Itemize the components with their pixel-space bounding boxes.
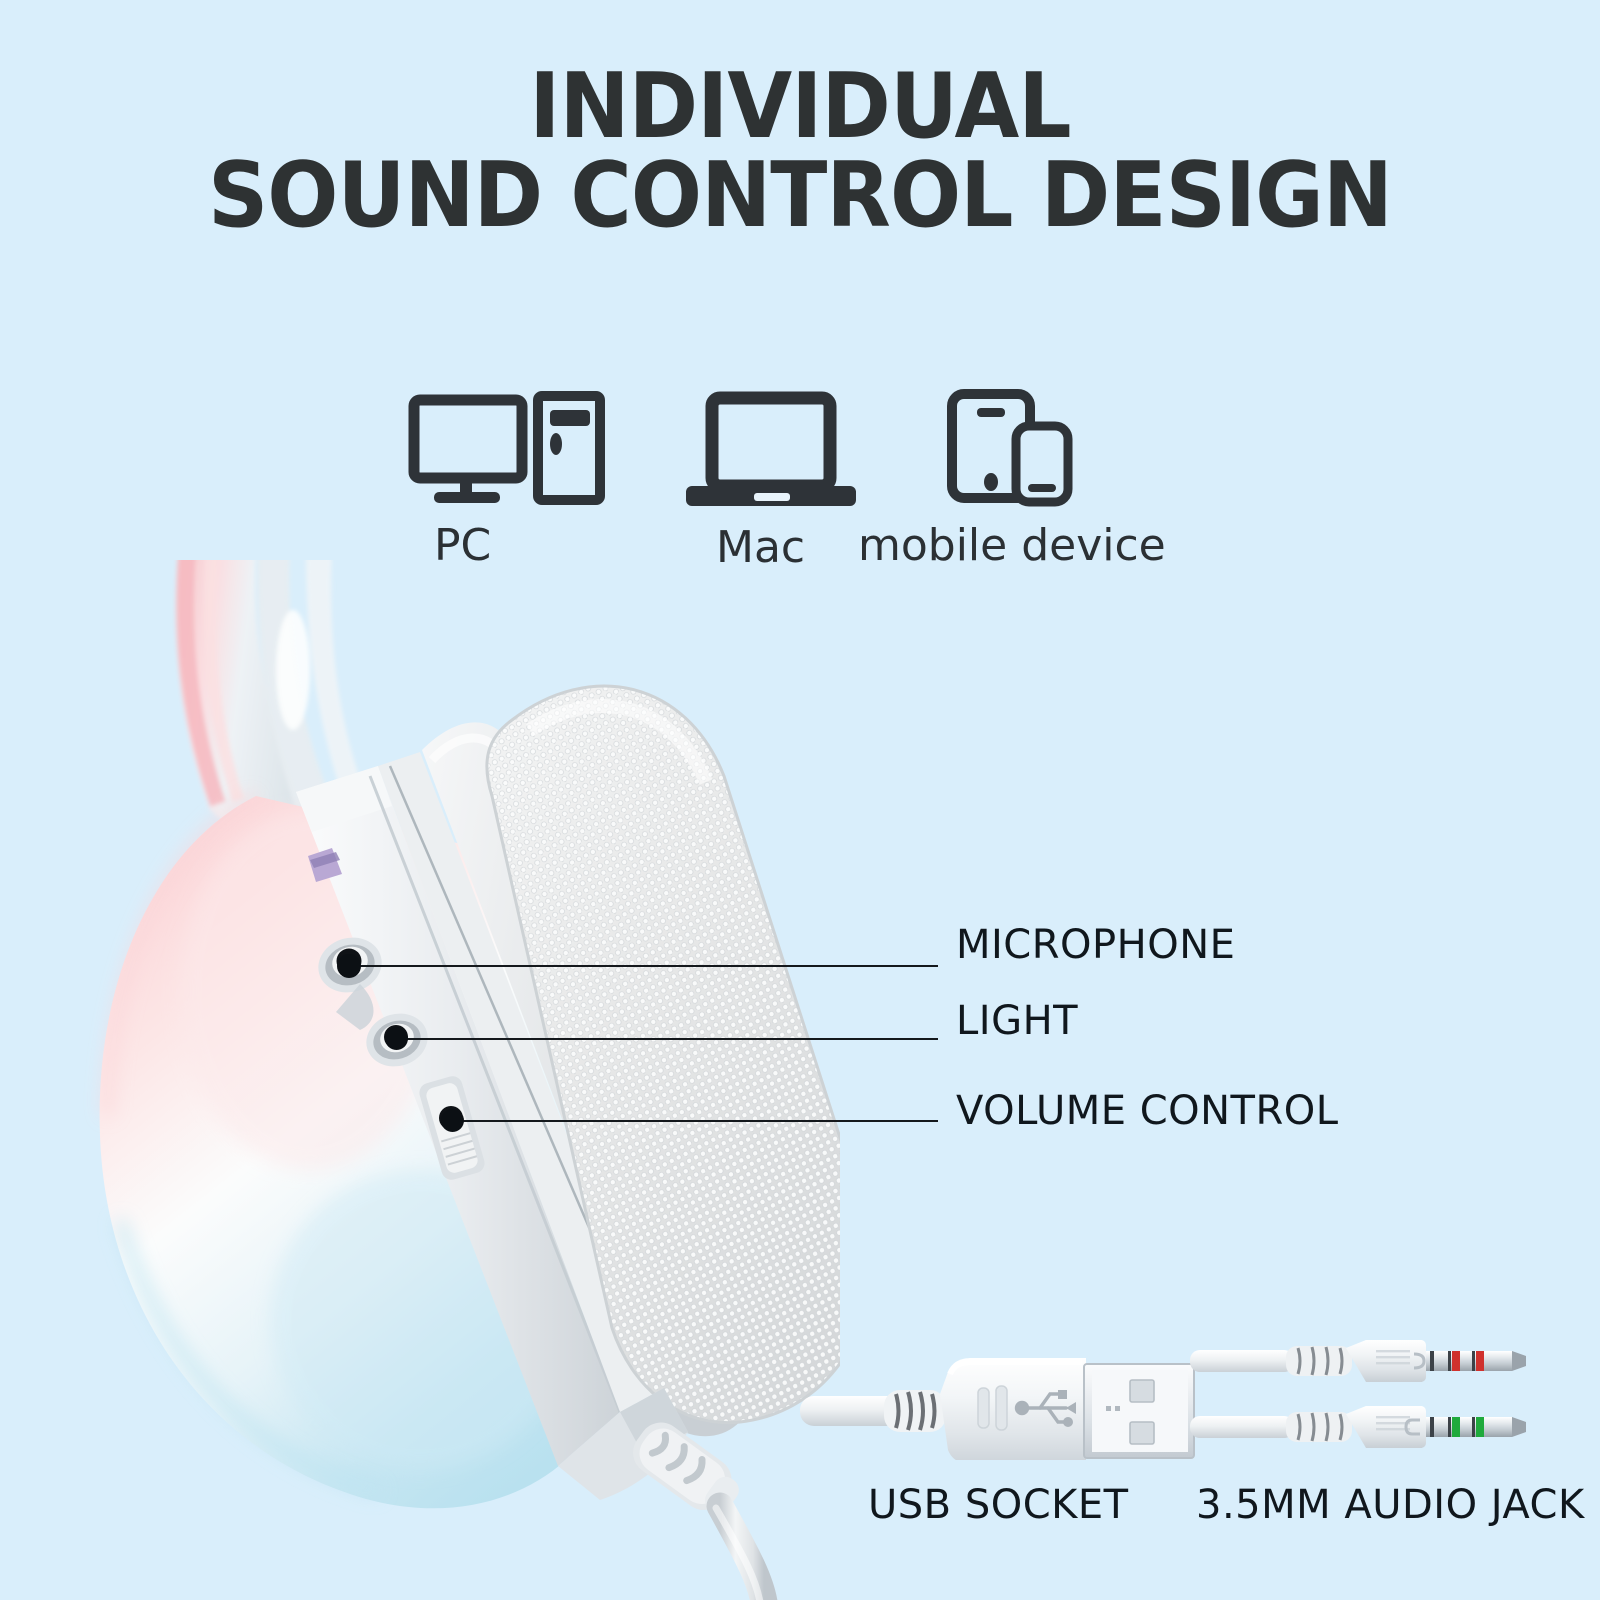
callout-label-volume: VOLUME CONTROL: [956, 1088, 1339, 1134]
laptop-icon: [686, 390, 856, 510]
leader-dot-light: [385, 1027, 408, 1050]
callout-label-light: LIGHT: [956, 998, 1078, 1044]
page-title: INDIVIDUAL SOUND CONTROL DESIGN: [0, 62, 1600, 240]
callout-label-microphone: MICROPHONE: [956, 922, 1235, 968]
desktop-computer-icon: [408, 388, 608, 508]
title-line-1: INDIVIDUAL: [56, 62, 1544, 151]
audio-jack-pair-icon: [1190, 1318, 1600, 1468]
leader-line-light: [396, 1038, 938, 1040]
compat-item-mobile: mobile device: [944, 388, 1074, 513]
audio-jack-microphone: [1190, 1340, 1526, 1382]
compat-label-mobile: mobile device: [858, 520, 1166, 571]
audio-jack-caption: 3.5MM AUDIO JACK: [1196, 1482, 1585, 1528]
compat-item-mac: Mac: [686, 390, 856, 515]
usb-a-connector-icon: [800, 1320, 1200, 1460]
leader-dot-volume: [441, 1109, 464, 1132]
leader-line-microphone: [348, 965, 938, 967]
title-line-2: SOUND CONTROL DESIGN: [56, 151, 1544, 240]
audio-jack-headphone: [1190, 1406, 1526, 1448]
leader-line-volume: [452, 1120, 938, 1122]
headset-product-image: [60, 560, 840, 1600]
infographic-canvas: INDIVIDUAL SOUND CONTROL DESIGN PC Mac: [0, 0, 1600, 1600]
usb-socket-caption: USB SOCKET: [868, 1482, 1129, 1528]
compat-item-pc: PC: [408, 388, 608, 513]
leader-dot-microphone: [337, 954, 361, 978]
tablet-phone-icon: [944, 388, 1074, 508]
